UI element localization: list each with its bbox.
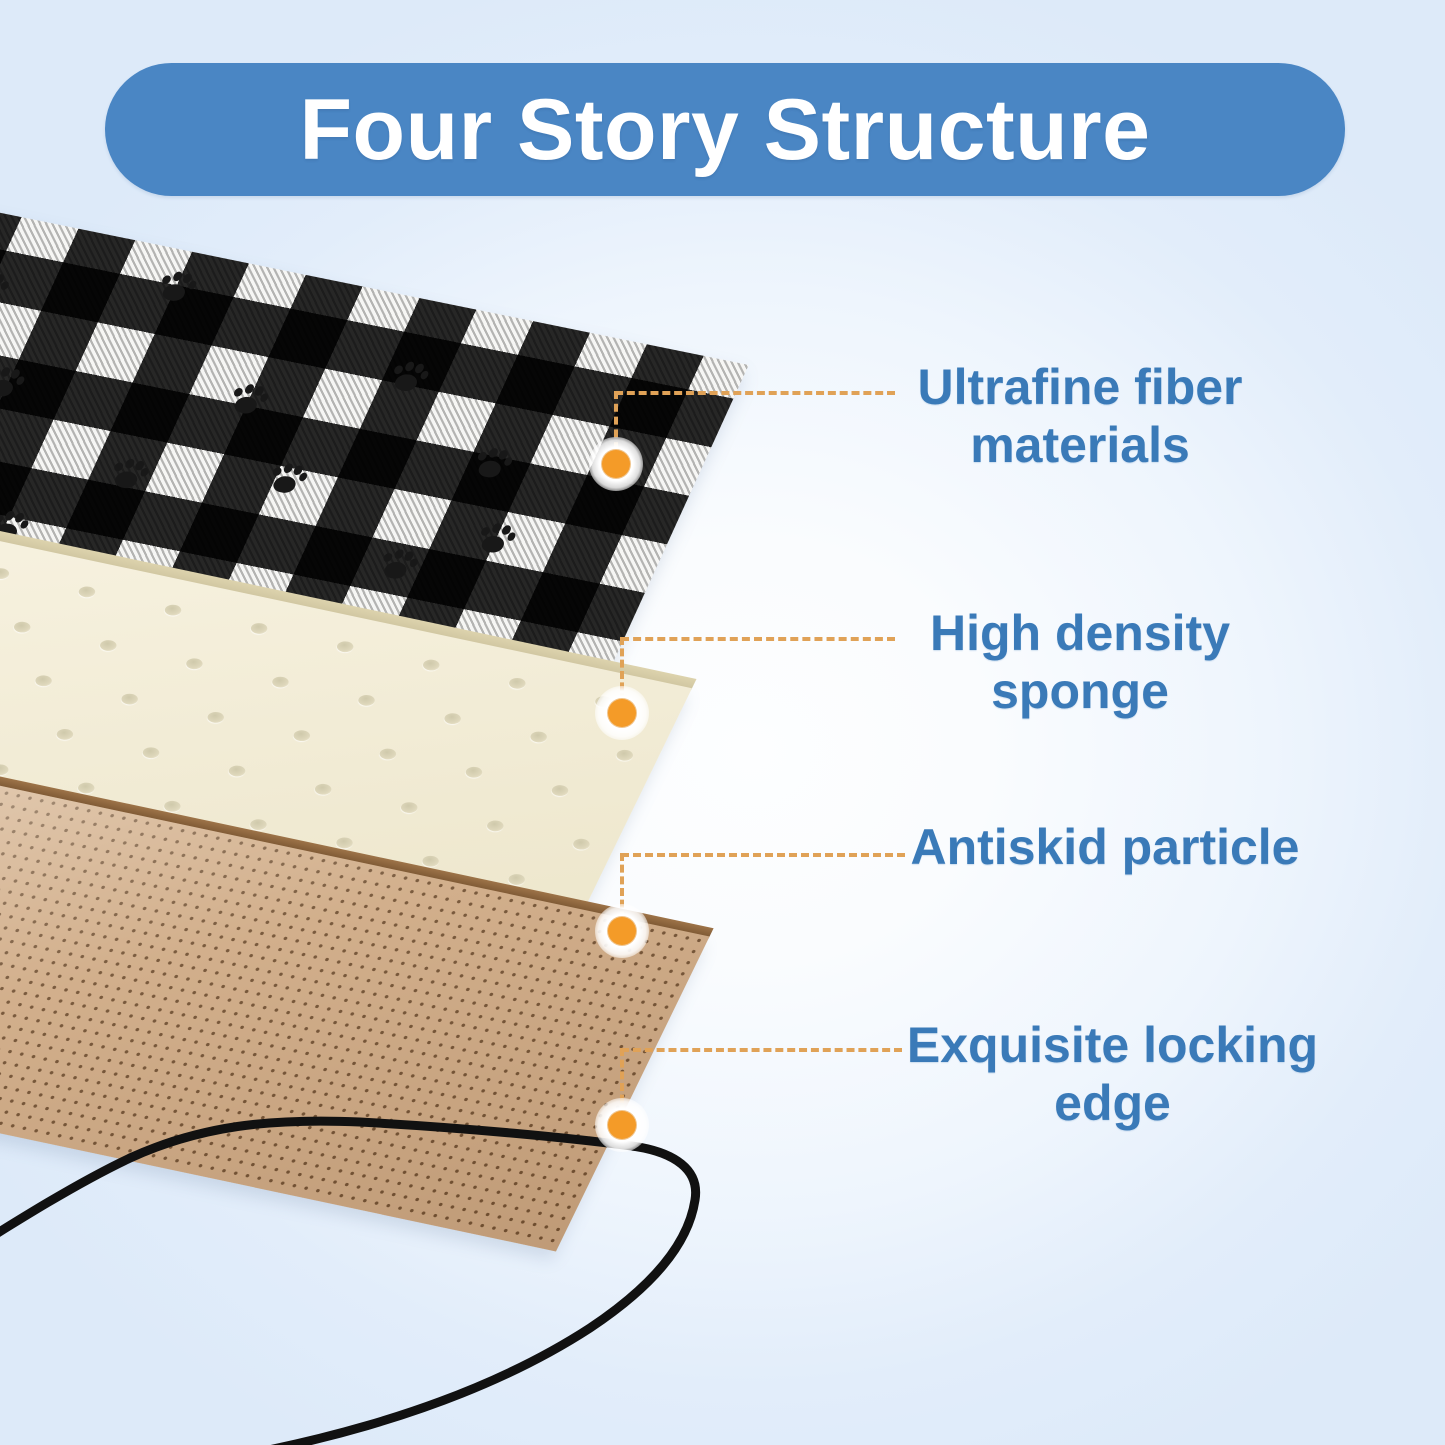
sponge-dimple — [399, 801, 420, 815]
callout-label-high-density-sponge: High density sponge — [860, 604, 1300, 720]
sponge-dimple — [119, 692, 140, 706]
page-title: Four Story Structure — [300, 87, 1151, 173]
sponge-dimple — [33, 674, 54, 688]
sponge-dimple — [163, 603, 184, 617]
paw-print-icon — [468, 445, 515, 482]
paw-print-icon — [0, 270, 12, 307]
sponge-dimple — [12, 620, 33, 634]
sponge-dimple — [507, 677, 528, 691]
callout-label-line: Antiskid particle — [860, 818, 1350, 876]
callout-label-line: sponge — [860, 662, 1300, 720]
sponge-dimple — [0, 567, 11, 581]
sponge-dimple — [184, 657, 205, 671]
sponge-dimple — [356, 694, 377, 708]
sponge-dimple — [550, 784, 571, 798]
sponge-dimple — [378, 747, 399, 761]
locking-edge-layer — [0, 1060, 770, 1445]
sponge-dimple — [313, 783, 334, 797]
sponge-dimple — [593, 695, 614, 709]
sponge-dimple — [464, 766, 485, 780]
callout-label-line: Exquisite locking — [860, 1016, 1365, 1074]
sponge-dimple — [249, 622, 270, 636]
paw-print-icon — [374, 547, 421, 584]
sponge-dimple — [270, 675, 291, 689]
sponge-dimple — [335, 640, 356, 654]
sponge-dimple — [205, 711, 226, 725]
callout-label-ultrafine-fiber-materials: Ultrafine fiber materials — [860, 358, 1300, 474]
sponge-dimple — [421, 658, 442, 672]
connector-horizontal-segment — [621, 637, 895, 641]
locking-edge-outline — [0, 1060, 770, 1445]
sponge-dimple — [528, 730, 549, 744]
callout-label-antiskid-particle: Antiskid particle — [860, 818, 1350, 876]
sponge-dimple — [141, 746, 162, 760]
sponge-dimple — [77, 585, 98, 599]
callout-label-line: Ultrafine fiber — [860, 358, 1300, 416]
sponge-dimple — [614, 748, 635, 762]
paw-print-icon — [384, 359, 431, 396]
paw-print-icon — [471, 521, 518, 558]
paw-print-icon — [152, 269, 199, 306]
paw-print-icon — [105, 456, 152, 493]
sponge-dimple — [485, 819, 506, 833]
callout-label-exquisite-locking-edge: Exquisite locking edge — [860, 1016, 1365, 1132]
sponge-dimple — [291, 729, 312, 743]
paw-print-icon — [263, 461, 310, 498]
sponge-dimple — [227, 764, 248, 778]
sponge-dimple — [98, 639, 119, 653]
sponge-dimple — [0, 763, 11, 777]
callout-label-line: materials — [860, 416, 1300, 474]
sponge-dimple — [442, 712, 463, 726]
paw-print-icon — [0, 365, 27, 402]
infographic-canvas: Ultrafine fiber materials High density s… — [0, 0, 1445, 1445]
sponge-dimple — [55, 728, 76, 742]
title-banner: Four Story Structure — [105, 63, 1345, 196]
sponge-dimple — [571, 837, 592, 851]
paw-print-icon — [224, 382, 271, 419]
callout-label-line: edge — [860, 1074, 1365, 1132]
callout-label-line: High density — [860, 604, 1300, 662]
